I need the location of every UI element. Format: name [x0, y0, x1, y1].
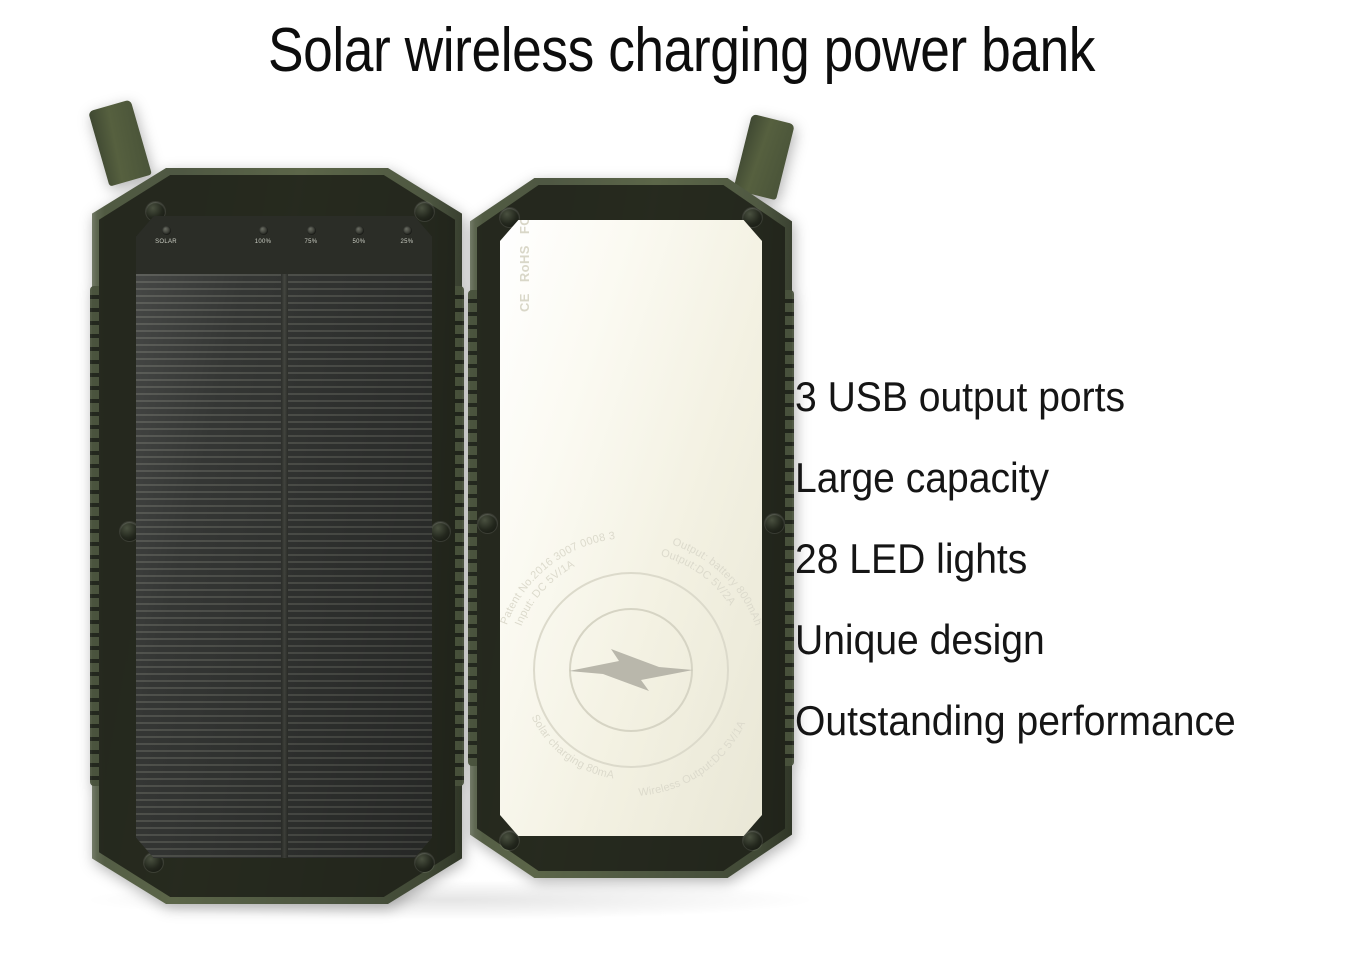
lanyard-strap-right: [733, 114, 795, 200]
indicator-100: 100%: [241, 226, 285, 245]
corner-screw-bottom-right: [743, 831, 762, 850]
feature-item: Unique design: [795, 618, 1288, 662]
feature-list: 3 USB output ports Large capacity 28 LED…: [795, 375, 1325, 743]
photovoltaic-cell-area: [136, 274, 432, 858]
led-indicator-strip: SOLAR 100% 75% 50% 25%: [136, 216, 432, 274]
feature-item: Outstanding performance: [795, 699, 1288, 743]
indicator-75: 75%: [289, 226, 333, 245]
page-title: Solar wireless charging power bank: [95, 16, 1267, 86]
edge-screw-right: [431, 522, 450, 541]
led-dot-icon: [355, 226, 364, 235]
power-bank-back-face: CE RoHS FC Ma: [470, 178, 792, 878]
edge-screw-right: [765, 514, 784, 533]
indicator-label: 100%: [241, 239, 285, 245]
indicator-solar: SOLAR: [144, 226, 188, 245]
feature-item: 28 LED lights: [795, 537, 1288, 581]
indicator-50: 50%: [337, 226, 381, 245]
corner-screw-bottom-left: [500, 831, 519, 850]
back-cover-face: CE RoHS FC Ma: [500, 220, 762, 836]
indicator-label: SOLAR: [144, 239, 188, 245]
side-grip-right: [785, 290, 794, 766]
corner-screw-bottom-right: [415, 853, 434, 872]
edge-screw-left: [478, 514, 497, 533]
led-dot-icon: [403, 226, 412, 235]
indicator-label: 50%: [337, 239, 381, 245]
solar-panel-face: SOLAR 100% 75% 50% 25%: [136, 216, 432, 858]
led-dot-icon: [162, 226, 171, 235]
fcc-mark-icon: FC: [518, 220, 532, 234]
feature-item: Large capacity: [795, 456, 1288, 500]
indicator-label: 25%: [385, 239, 429, 245]
lightning-bolt-icon: [567, 647, 695, 693]
wireless-charging-emblem: Input: DC 5V/1A Output:DC 5V/2A Patent N…: [533, 572, 729, 768]
power-bank-solar-face: SOLAR 100% 75% 50% 25%: [92, 168, 462, 904]
ce-mark-icon: CE: [518, 293, 532, 312]
side-grip-left: [468, 290, 477, 766]
side-grip-left: [90, 286, 99, 786]
led-dot-icon: [259, 226, 268, 235]
rohs-mark-icon: RoHS: [518, 245, 532, 282]
feature-item: 3 USB output ports: [795, 375, 1288, 419]
corner-screw-top-right: [415, 202, 434, 221]
panel-sheen: [136, 274, 432, 858]
side-grip-right: [455, 286, 464, 786]
indicator-25: 25%: [385, 226, 429, 245]
certification-marks: CE RoHS FC Ma: [518, 220, 532, 312]
led-dot-icon: [307, 226, 316, 235]
lanyard-strap-left: [88, 99, 152, 186]
indicator-label: 75%: [289, 239, 333, 245]
product-image-canvas: Solar wireless charging power bank SOLAR…: [0, 0, 1363, 970]
